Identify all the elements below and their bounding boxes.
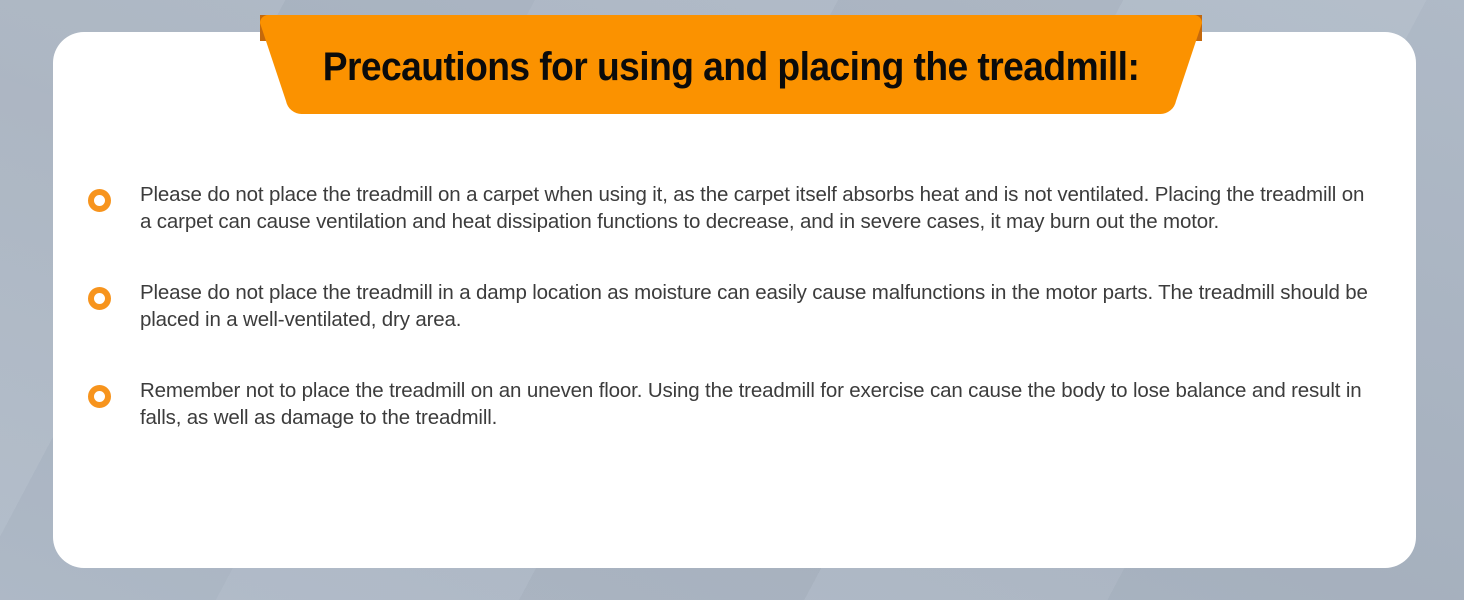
list-item: Remember not to place the treadmill on a… xyxy=(88,378,1378,431)
ring-bullet-icon xyxy=(88,189,111,212)
list-item: Please do not place the treadmill in a d… xyxy=(88,280,1378,333)
title-banner: Precautions for using and placing the tr… xyxy=(260,15,1202,114)
banner-title-text: Precautions for using and placing the tr… xyxy=(293,46,1169,88)
precautions-list: Please do not place the treadmill on a c… xyxy=(88,182,1378,431)
list-item-text: Please do not place the treadmill on a c… xyxy=(140,182,1370,235)
ring-bullet-icon xyxy=(88,385,111,408)
list-item-text: Please do not place the treadmill in a d… xyxy=(140,280,1370,333)
list-item-text: Remember not to place the treadmill on a… xyxy=(140,378,1370,431)
list-item: Please do not place the treadmill on a c… xyxy=(88,182,1378,235)
ring-bullet-icon xyxy=(88,287,111,310)
